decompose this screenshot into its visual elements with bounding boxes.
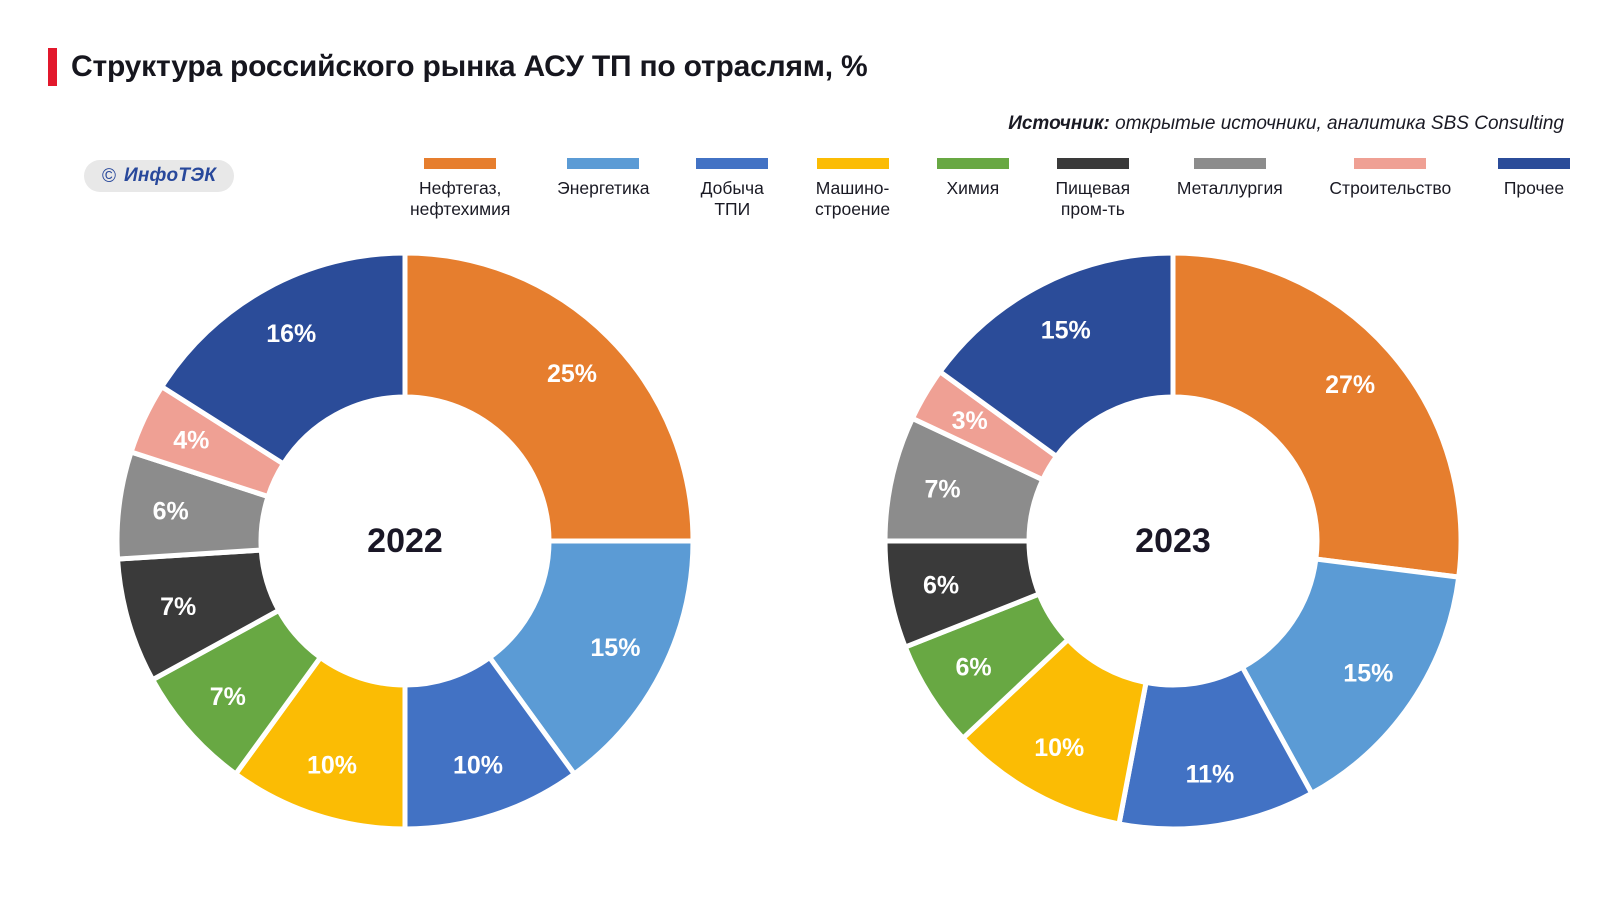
page-title: Структура российского рынка АСУ ТП по от…	[71, 50, 868, 84]
legend-label: Добыча ТПИ	[701, 178, 764, 219]
copyright-icon: ©	[102, 167, 116, 186]
slice-value-label: 11%	[1186, 760, 1235, 788]
slice-value-label: 10%	[307, 752, 357, 780]
slice-value-label: 6%	[956, 654, 992, 682]
legend-label: Химия	[946, 178, 999, 199]
donut-chart-2022: 25%15%10%10%7%7%6%4%16%2022	[112, 248, 698, 834]
legend-label: Прочее	[1504, 178, 1564, 199]
legend-label: Строительство	[1329, 178, 1451, 199]
donut-chart-2023: 27%15%11%10%6%6%7%3%15%2023	[880, 248, 1466, 834]
legend-item[interactable]: Энергетика	[557, 158, 649, 199]
title-row: Структура российского рынка АСУ ТП по от…	[48, 48, 868, 86]
legend-item[interactable]: Строительство	[1329, 158, 1451, 199]
slice-value-label: 15%	[1343, 660, 1393, 688]
pie-slice[interactable]	[405, 253, 693, 541]
legend-label: Металлургия	[1177, 178, 1283, 199]
legend-swatch	[696, 158, 768, 169]
legend-item[interactable]: Прочее	[1498, 158, 1570, 199]
legend-label: Пищевая пром-ть	[1056, 178, 1131, 219]
slice-value-label: 6%	[923, 571, 959, 599]
legend-item[interactable]: Металлургия	[1177, 158, 1283, 199]
legend-swatch	[1354, 158, 1426, 169]
donut-svg: 27%15%11%10%6%6%7%3%15%2023	[880, 248, 1466, 834]
legend-label: Машино- строение	[815, 178, 890, 219]
legend-swatch	[1194, 158, 1266, 169]
legend-item[interactable]: Добыча ТПИ	[696, 158, 768, 219]
slice-value-label: 10%	[1034, 734, 1084, 762]
donut-center-label: 2022	[367, 522, 443, 560]
legend-swatch	[424, 158, 496, 169]
slice-value-label: 25%	[547, 360, 597, 388]
donut-svg: 25%15%10%10%7%7%6%4%16%2022	[112, 248, 698, 834]
chart-legend: Нефтегаз, нефтехимияЭнергетикаДобыча ТПИ…	[410, 158, 1570, 219]
legend-swatch	[937, 158, 1009, 169]
slice-value-label: 15%	[1041, 317, 1091, 345]
legend-swatch	[567, 158, 639, 169]
legend-swatch	[1057, 158, 1129, 169]
slice-value-label: 4%	[173, 426, 209, 454]
source-label: Источник:	[1008, 113, 1110, 134]
copyright-badge: © ИнфоТЭК	[84, 160, 234, 192]
pie-slice[interactable]	[1173, 253, 1461, 577]
slice-value-label: 6%	[153, 497, 189, 525]
title-accent-bar	[48, 48, 57, 86]
slice-value-label: 3%	[952, 407, 988, 435]
slice-value-label: 10%	[453, 752, 503, 780]
donut-center-label: 2023	[1135, 522, 1211, 560]
legend-item[interactable]: Машино- строение	[815, 158, 890, 219]
legend-item[interactable]: Нефтегаз, нефтехимия	[410, 158, 510, 219]
legend-item[interactable]: Химия	[937, 158, 1009, 199]
slice-value-label: 7%	[924, 475, 960, 503]
slice-value-label: 27%	[1325, 371, 1375, 399]
slice-value-label: 7%	[160, 593, 196, 621]
legend-label: Энергетика	[557, 178, 649, 199]
source-text: открытые источники, аналитика SBS Consul…	[1110, 113, 1564, 134]
source-line: Источник: открытые источники, аналитика …	[1008, 113, 1564, 135]
legend-swatch	[1498, 158, 1570, 169]
copyright-label: ИнфоТЭК	[124, 165, 216, 187]
slice-value-label: 7%	[210, 683, 246, 711]
legend-swatch	[817, 158, 889, 169]
legend-label: Нефтегаз, нефтехимия	[410, 178, 510, 219]
slice-value-label: 15%	[590, 634, 640, 662]
slice-value-label: 16%	[266, 320, 316, 348]
legend-item[interactable]: Пищевая пром-ть	[1056, 158, 1131, 219]
